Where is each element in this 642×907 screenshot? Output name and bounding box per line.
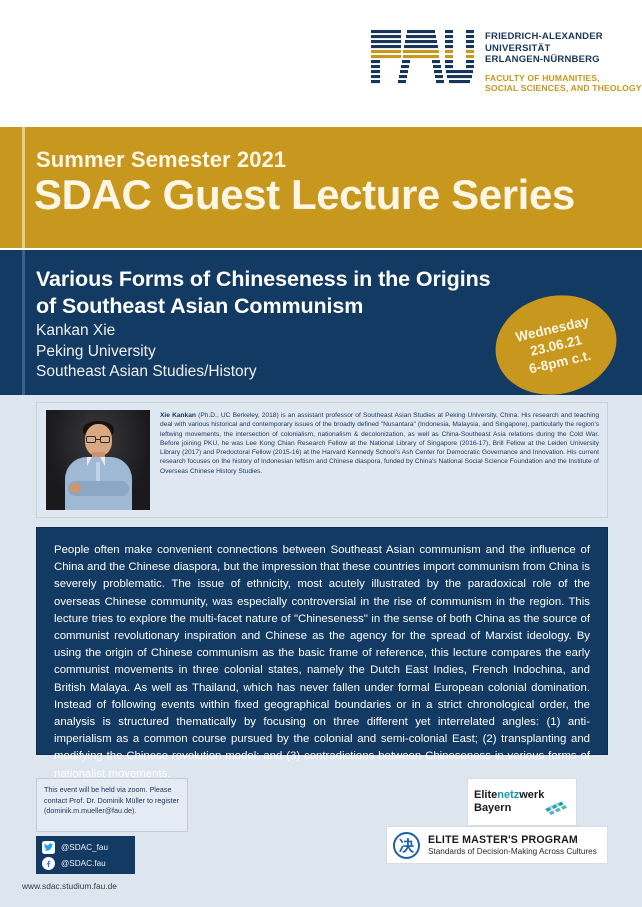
- speaker-bio-panel: Xie Kankan (Ph.D., UC Berkeley, 2018) is…: [36, 402, 608, 518]
- social-media-strip: @SDAC_fau @SDAC.fau: [36, 836, 135, 874]
- contact-text: This event will be held via zoom. Please…: [44, 785, 179, 815]
- facebook-handle: @SDAC.fau: [61, 859, 106, 868]
- twitter-row[interactable]: @SDAC_fau: [42, 841, 129, 854]
- elitenetzwerk-bayern-logo: Elitenetzwerk Bayern: [467, 778, 577, 826]
- faculty-name: FACULTY OF HUMANITIES, SOCIAL SCIENCES, …: [485, 73, 642, 94]
- facebook-row[interactable]: @SDAC.fau: [42, 857, 129, 870]
- lecture-poster: FRIEDRICH-ALEXANDER UNIVERSITÄT ERLANGEN…: [0, 0, 642, 907]
- lecture-title: Various Forms of Chineseness in the Orig…: [36, 266, 506, 320]
- lecture-left-rule: [22, 250, 25, 395]
- speaker-bio-text: Xie Kankan (Ph.D., UC Berkeley, 2018) is…: [160, 410, 599, 510]
- twitter-handle: @SDAC_fau: [61, 843, 108, 852]
- speaker-name: Kankan Xie: [36, 321, 257, 342]
- bio-body-text: (Ph.D., UC Berkeley, 2018) is an assista…: [160, 412, 599, 475]
- emp-wordmark: ELITE MASTER'S PROGRAM Standards of Deci…: [428, 834, 597, 856]
- fau-wordmark-text: FRIEDRICH-ALEXANDER UNIVERSITÄT ERLANGEN…: [485, 28, 642, 94]
- twitter-bird-icon: [42, 841, 55, 854]
- series-title: SDAC Guest Lecture Series: [34, 171, 575, 219]
- enb-wordmark: Elitenetzwerk Bayern: [474, 789, 544, 815]
- footer-url[interactable]: www.sdac.studium.fau.de: [22, 881, 117, 891]
- fau-wordmark-icon: [371, 28, 475, 84]
- enb-elite: Elite: [474, 789, 497, 801]
- emp-seal-icon: 决: [393, 832, 420, 859]
- elite-masters-program-logo: 决 ELITE MASTER'S PROGRAM Standards of De…: [386, 826, 608, 864]
- gold-banner: Summer Semester 2021 SDAC Guest Lecture …: [0, 127, 642, 248]
- emp-title: ELITE MASTER'S PROGRAM: [428, 834, 597, 846]
- abstract-panel: People often make convenient connections…: [36, 527, 608, 755]
- bio-name-bold: Xie Kankan: [160, 412, 196, 419]
- speaker-department: Southeast Asian Studies/History: [36, 362, 257, 383]
- banner-left-rule: [22, 127, 25, 248]
- abstract-text: People often make convenient connections…: [54, 542, 590, 783]
- speaker-affiliation: Peking University: [36, 342, 257, 363]
- university-name: FRIEDRICH-ALEXANDER UNIVERSITÄT ERLANGEN…: [485, 31, 642, 66]
- enb-bayern: Bayern: [474, 802, 544, 815]
- enb-netz: netz: [497, 789, 519, 801]
- fau-logo-lockup: FRIEDRICH-ALEXANDER UNIVERSITÄT ERLANGEN…: [371, 28, 642, 94]
- emp-subtitle: Standards of Decision-Making Across Cult…: [428, 847, 597, 856]
- registration-contact-box: This event will be held via zoom. Please…: [36, 778, 188, 832]
- facebook-f-icon: [42, 857, 55, 870]
- speaker-block: Kankan Xie Peking University Southeast A…: [36, 321, 257, 383]
- semester-label: Summer Semester 2021: [36, 147, 286, 173]
- enb-werk: werk: [519, 789, 544, 801]
- logo-header: FRIEDRICH-ALEXANDER UNIVERSITÄT ERLANGEN…: [0, 0, 642, 127]
- checkered-flag-icon: [544, 796, 570, 818]
- speaker-portrait: [46, 410, 150, 510]
